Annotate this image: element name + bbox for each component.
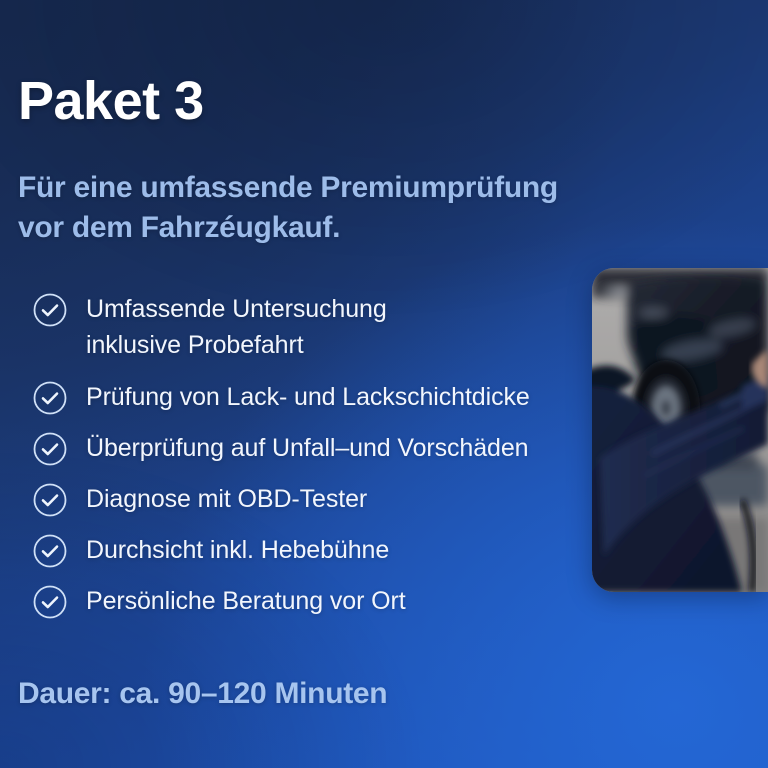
list-item-label: Prüfung von Lack- und Lackschichtdicke	[86, 379, 530, 416]
check-circle-icon	[32, 431, 68, 467]
feature-list: Umfassende Untersuchung inklusive Probef…	[18, 291, 638, 634]
list-item-line: Umfassende Untersuchung	[86, 292, 387, 328]
list-item-line: Prüfung von Lack- und Lackschichtdicke	[86, 380, 530, 416]
list-item-label: Überprüfung auf Unfall–und Vorschäden	[86, 430, 528, 467]
list-item-label: Persönliche Beratung vor Ort	[86, 583, 406, 620]
check-circle-icon	[32, 584, 68, 620]
list-item-label: Durchsicht inkl. Hebebühne	[86, 532, 389, 569]
subtitle-line-2: vor dem Fahrzéugkauf.	[18, 208, 638, 248]
check-circle-icon	[32, 380, 68, 416]
list-item-line: Überprüfung auf Unfall–und Vorschäden	[86, 431, 528, 467]
workshop-photo	[592, 268, 768, 592]
package-promo-card: Paket 3 Für eine umfassende Premiumprüfu…	[0, 0, 768, 768]
check-circle-icon	[32, 292, 68, 328]
list-item-line: inklusive Probefahrt	[86, 328, 387, 364]
list-item: Umfassende Untersuchung inklusive Probef…	[18, 291, 638, 363]
check-circle-icon	[32, 533, 68, 569]
list-item: Diagnose mit OBD-Tester	[18, 481, 638, 518]
list-item: Durchsicht inkl. Hebebühne	[18, 532, 638, 569]
duration-text: Dauer: ca. 90–120 Minuten	[18, 677, 387, 711]
list-item: Persönliche Beratung vor Ort	[18, 583, 638, 620]
page-title: Paket 3	[18, 74, 204, 128]
list-item-line: Diagnose mit OBD-Tester	[86, 482, 367, 518]
check-circle-icon	[32, 482, 68, 518]
subtitle: Für eine umfassende Premiumprüfung vor d…	[18, 168, 638, 248]
list-item: Prüfung von Lack- und Lackschichtdicke	[18, 379, 638, 416]
text-column: Paket 3 Für eine umfassende Premiumprüfu…	[18, 0, 658, 768]
list-item-label: Diagnose mit OBD-Tester	[86, 481, 367, 518]
list-item-line: Persönliche Beratung vor Ort	[86, 584, 406, 620]
subtitle-line-1: Für eine umfassende Premiumprüfung	[18, 168, 638, 208]
list-item-label: Umfassende Untersuchung inklusive Probef…	[86, 291, 387, 363]
list-item: Überprüfung auf Unfall–und Vorschäden	[18, 430, 638, 467]
list-item-line: Durchsicht inkl. Hebebühne	[86, 533, 389, 569]
